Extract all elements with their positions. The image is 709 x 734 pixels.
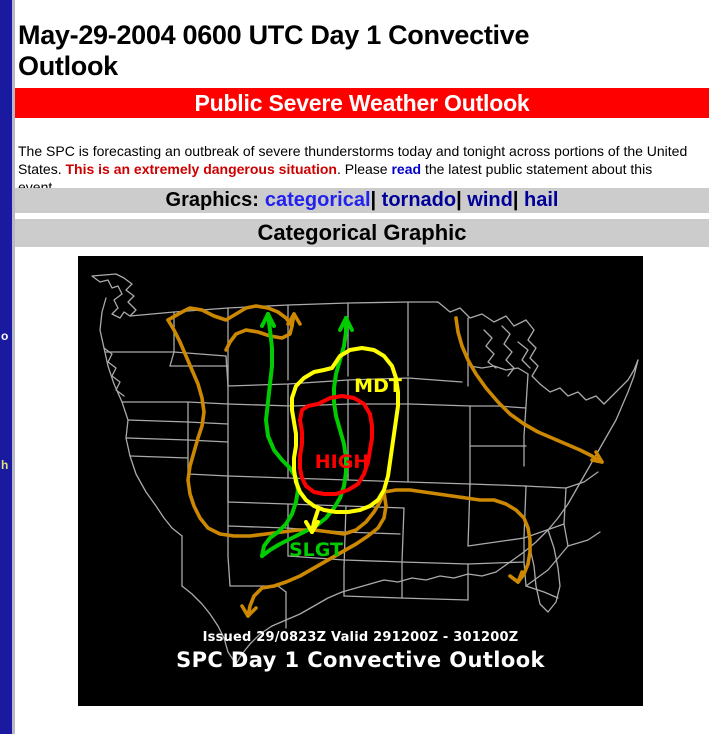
section-title-bar: Categorical Graphic (15, 219, 709, 247)
danger-statement: This is an extremely dangerous situation (65, 161, 337, 177)
risk-label-mdt: MDT (354, 375, 402, 397)
graphics-link-categorical[interactable]: categorical (265, 189, 371, 211)
read-statement-link[interactable]: read (391, 161, 421, 177)
map-issued-valid-text: Issued 29/0823Z Valid 291200Z - 301200Z (78, 630, 643, 645)
graphics-link-wind[interactable]: wind (467, 189, 513, 211)
page-content: May-29-2004 0600 UTC Day 1 Convective Ou… (15, 0, 709, 734)
public-severe-weather-outlook-banner: Public Severe Weather Outlook (15, 88, 709, 118)
intro-text-part2: . Please (337, 161, 391, 177)
sidebar-stub-1[interactable]: o (1, 330, 8, 342)
map-product-title: SPC Day 1 Convective Outlook (78, 648, 643, 672)
graphics-link-tornado[interactable]: tornado (382, 189, 456, 211)
graphics-nav-label: Graphics: (166, 189, 259, 211)
risk-label-high: HIGH (315, 451, 369, 473)
graphics-link-hail[interactable]: hail (524, 189, 558, 211)
categorical-outlook-map[interactable]: MDT HIGH SLGT Issued 29/0823Z Valid 2912… (78, 256, 643, 706)
risk-label-slgt: SLGT (289, 539, 343, 561)
sidebar-stub-2[interactable]: h (1, 459, 8, 471)
left-navigation-strip[interactable]: o h (0, 0, 15, 734)
nav-separator-1: | (371, 189, 377, 211)
graphics-nav-bar: Graphics:categorical| tornado| wind| hai… (15, 188, 709, 213)
nav-separator-2: | (456, 189, 462, 211)
nav-separator-3: | (513, 189, 519, 211)
page-title: May-29-2004 0600 UTC Day 1 Convective Ou… (18, 20, 618, 82)
